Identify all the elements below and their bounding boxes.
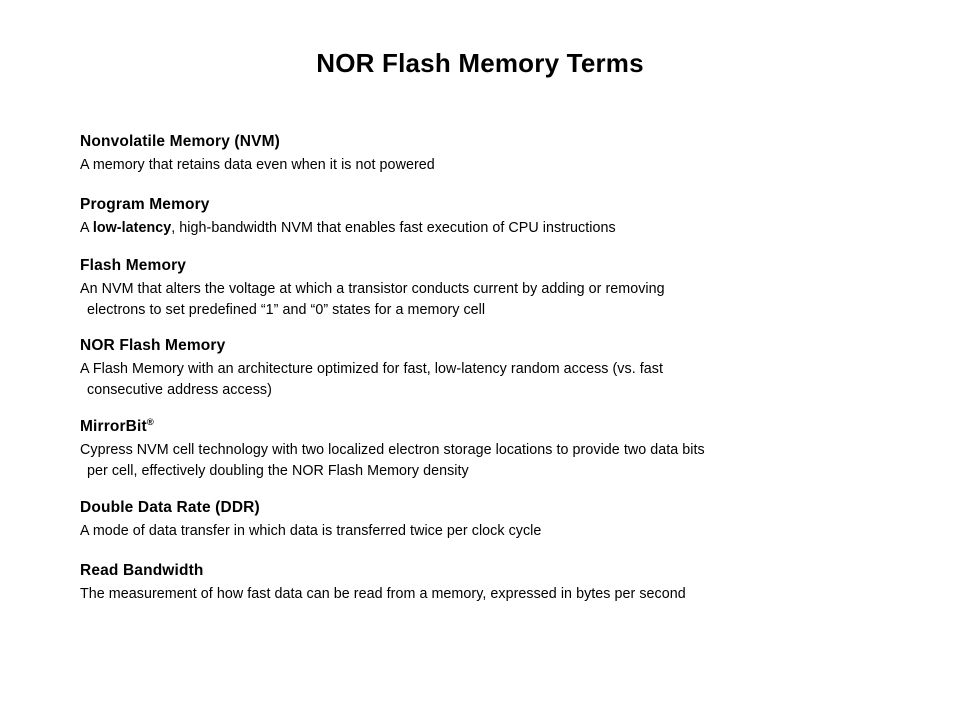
term-list: Nonvolatile Memory (NVM) A memory that r… <box>80 131 910 604</box>
term-definition: A memory that retains data even when it … <box>80 155 910 176</box>
slide: NOR Flash Memory Terms Nonvolatile Memor… <box>0 0 960 720</box>
term-definition: A low-latency, high-bandwidth NVM that e… <box>80 218 910 239</box>
term-entry: NOR Flash Memory A Flash Memory with an … <box>80 335 910 400</box>
term-definition: A Flash Memory with an architecture opti… <box>80 359 910 400</box>
term-definition-line: consecutive address access) <box>87 382 272 398</box>
term-definition: The measurement of how fast data can be … <box>80 584 910 605</box>
term-definition-line: An NVM that alters the voltage at which … <box>80 281 665 297</box>
definition-emphasis: low-latency <box>93 220 171 236</box>
term-definition-line: electrons to set predefined “1” and “0” … <box>87 302 485 318</box>
term-definition-line: A low-latency, high-bandwidth NVM that e… <box>80 220 616 236</box>
term-name: Flash Memory <box>80 255 910 276</box>
term-entry: Program Memory A low-latency, high-bandw… <box>80 194 910 239</box>
term-name: NOR Flash Memory <box>80 335 910 356</box>
term-name: MirrorBit® <box>80 416 910 437</box>
term-name: Double Data Rate (DDR) <box>80 497 910 518</box>
term-definition-line: A mode of data transfer in which data is… <box>80 523 541 539</box>
term-entry: MirrorBit® Cypress NVM cell technology w… <box>80 416 910 481</box>
term-definition-line: Cypress NVM cell technology with two loc… <box>80 442 705 458</box>
term-entry: Flash Memory An NVM that alters the volt… <box>80 255 910 320</box>
page-title: NOR Flash Memory Terms <box>0 48 960 79</box>
definition-prefix: A <box>80 220 93 236</box>
term-definition: An NVM that alters the voltage at which … <box>80 279 910 320</box>
term-definition-line: The measurement of how fast data can be … <box>80 586 686 602</box>
term-definition-line: A memory that retains data even when it … <box>80 157 435 173</box>
term-definition-line: A Flash Memory with an architecture opti… <box>80 361 663 377</box>
term-name: Read Bandwidth <box>80 560 910 581</box>
term-name: Nonvolatile Memory (NVM) <box>80 131 910 152</box>
term-entry: Read Bandwidth The measurement of how fa… <box>80 560 910 605</box>
term-definition: Cypress NVM cell technology with two loc… <box>80 440 910 481</box>
term-name: Program Memory <box>80 194 910 215</box>
definition-suffix: , high-bandwidth NVM that enables fast e… <box>171 220 615 236</box>
term-name-text: MirrorBit <box>80 418 147 435</box>
term-definition: A mode of data transfer in which data is… <box>80 521 910 542</box>
term-entry: Double Data Rate (DDR) A mode of data tr… <box>80 497 910 542</box>
term-entry: Nonvolatile Memory (NVM) A memory that r… <box>80 131 910 176</box>
registered-trademark-icon: ® <box>147 417 154 428</box>
term-definition-line: per cell, effectively doubling the NOR F… <box>87 463 469 479</box>
